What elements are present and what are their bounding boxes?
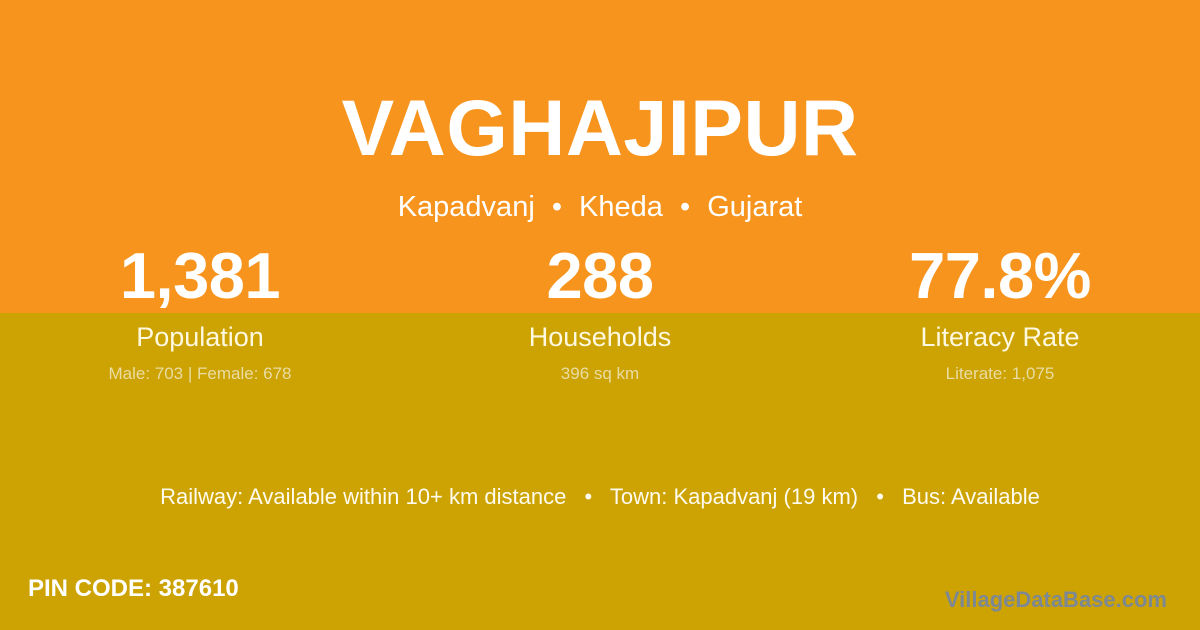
village-info-card: VAGHAJIPUR Kapadvanj • Kheda • Gujarat 1… [0, 0, 1200, 630]
stat-households: 288 Households 396 sq km [400, 243, 800, 382]
stats-row: 1,381 Population Male: 703 | Female: 678… [0, 243, 1200, 382]
stat-sublabel: Literate: 1,075 [800, 365, 1200, 382]
stat-population: 1,381 Population Male: 703 | Female: 678 [0, 243, 400, 382]
amenity-bus: Bus: Available [902, 484, 1040, 509]
breadcrumb-separator-icon: • [543, 193, 571, 222]
stat-label: Households [400, 324, 800, 351]
stat-label: Literacy Rate [800, 324, 1200, 351]
breadcrumb: Kapadvanj • Kheda • Gujarat [0, 193, 1200, 222]
pin-code: PIN CODE: 387610 [28, 577, 239, 601]
breadcrumb-taluka: Kapadvanj [398, 191, 535, 223]
amenities-line: Railway: Available within 10+ km distanc… [0, 486, 1200, 508]
breadcrumb-state: Gujarat [707, 191, 802, 223]
stat-label: Population [0, 324, 400, 351]
stat-sublabel: 396 sq km [400, 365, 800, 382]
stat-value: 288 [400, 243, 800, 308]
site-branding: VillageDataBase.com [945, 589, 1167, 611]
stat-value: 1,381 [0, 243, 400, 308]
page-title: VAGHAJIPUR [0, 88, 1200, 167]
stat-sublabel: Male: 703 | Female: 678 [0, 365, 400, 382]
amenity-separator-icon: • [864, 486, 896, 508]
amenity-town: Town: Kapadvanj (19 km) [610, 484, 858, 509]
amenity-separator-icon: • [572, 486, 604, 508]
breadcrumb-separator-icon: • [671, 193, 699, 222]
stat-literacy-rate: 77.8% Literacy Rate Literate: 1,075 [800, 243, 1200, 382]
stat-value: 77.8% [800, 243, 1200, 308]
hero-section: VAGHAJIPUR Kapadvanj • Kheda • Gujarat [0, 88, 1200, 222]
amenity-railway: Railway: Available within 10+ km distanc… [160, 484, 566, 509]
breadcrumb-district: Kheda [579, 191, 663, 223]
